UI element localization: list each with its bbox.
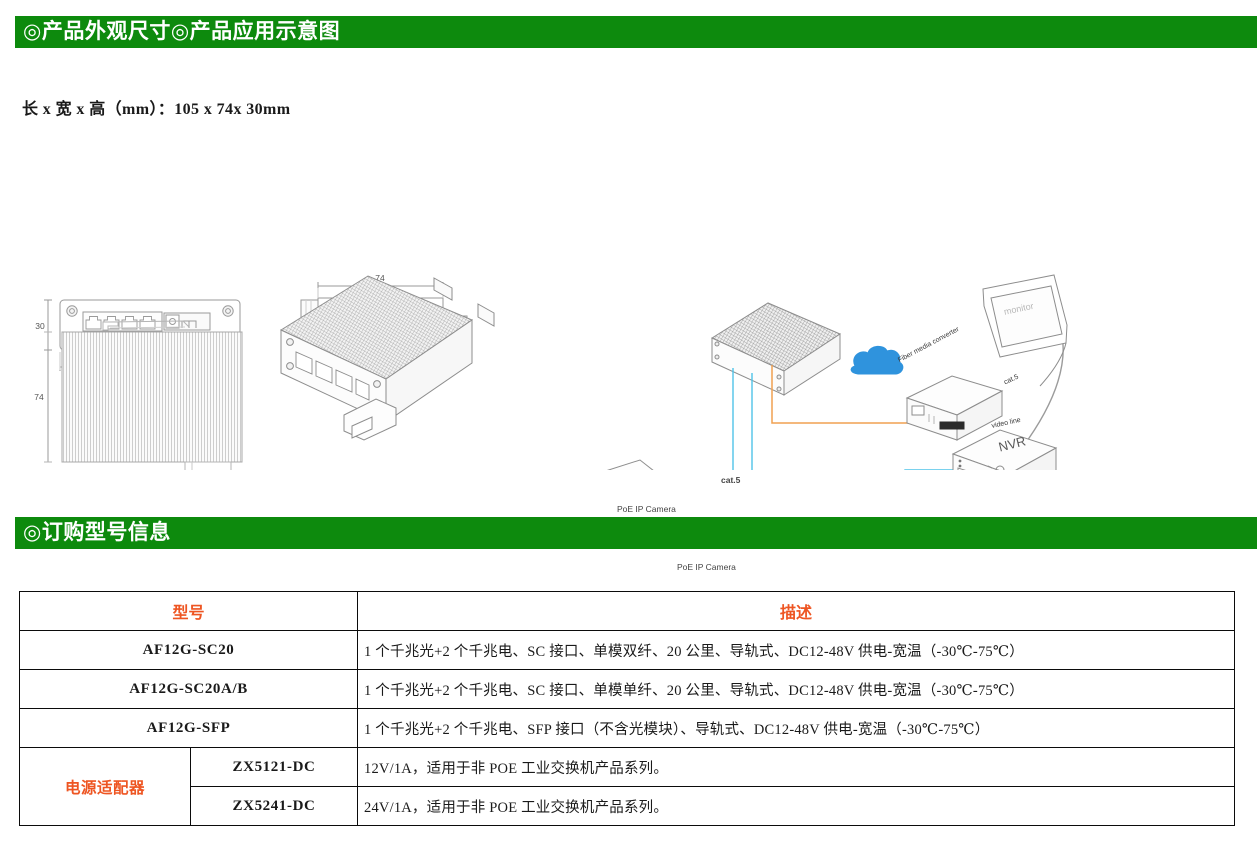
diagram-media-converter <box>907 376 1002 440</box>
drawings-svg: 30 105 74 74 <box>0 130 1257 470</box>
label-poe-ip-camera-1: PoE IP Camera <box>617 504 676 514</box>
power-adapter-group-label: 电源适配器 <box>20 748 191 826</box>
section-banner-dimensions: ◎产品外观尺寸◎产品应用示意图 <box>15 16 1257 48</box>
model-name: AF12G-SFP <box>20 709 358 748</box>
column-header-model: 型号 <box>20 592 358 631</box>
diagram-poe-camera-bullet <box>596 460 654 470</box>
table-row: AF12G-SC20A/B 1 个千兆光+2 个千兆电、SC 接口、单模单纤、2… <box>20 670 1235 709</box>
diagram-video-line <box>1022 335 1063 448</box>
diagram-switch <box>712 303 840 470</box>
adapter-model: ZX5241-DC <box>191 787 358 826</box>
drawing-side-view <box>44 321 242 470</box>
model-description: 1 个千兆光+2 个千兆电、SFP 接口（不含光模块）、导轨式、DC12-48V… <box>358 709 1235 748</box>
model-name: AF12G-SC20A/B <box>20 670 358 709</box>
model-description: 1 个千兆光+2 个千兆电、SC 接口、单模双纤、20 公里、导轨式、DC12-… <box>358 631 1235 670</box>
front-view-height-label: 30 <box>35 321 45 331</box>
label-wan-cloud: 广域网 <box>617 378 637 388</box>
table-row: 电源适配器 ZX5121-DC 12V/1A，适用于非 POE 工业交换机产品系… <box>20 748 1235 787</box>
model-name: AF12G-SC20 <box>20 631 358 670</box>
table-header-row: 型号 描述 <box>20 592 1235 631</box>
section-banner-ordering: ◎订购型号信息 <box>15 517 1257 549</box>
diagram-wan-cloud <box>851 346 903 374</box>
adapter-description: 12V/1A，适用于非 POE 工业交换机产品系列。 <box>358 748 1235 787</box>
adapter-description: 24V/1A，适用于非 POE 工业交换机产品系列。 <box>358 787 1235 826</box>
table-row: AF12G-SC20 1 个千兆光+2 个千兆电、SC 接口、单模双纤、20 公… <box>20 631 1235 670</box>
dimension-text: 长 x 宽 x 高（mm）：105 x 74x 30mm <box>22 95 291 119</box>
diagram-monitor <box>983 275 1067 386</box>
table-row: ZX5241-DC 24V/1A，适用于非 POE 工业交换机产品系列。 <box>20 787 1235 826</box>
model-description: 1 个千兆光+2 个千兆电、SC 接口、单模单纤、20 公里、导轨式、DC12-… <box>358 670 1235 709</box>
adapter-model: ZX5121-DC <box>191 748 358 787</box>
side-view-height-label: 74 <box>34 392 44 402</box>
table-row: AF12G-SFP 1 个千兆光+2 个千兆电、SFP 接口（不含光模块）、导轨… <box>20 709 1235 748</box>
ordering-table: 型号 描述 AF12G-SC20 1 个千兆光+2 个千兆电、SC 接口、单模双… <box>19 591 1235 826</box>
label-poe-ip-camera-2: PoE IP Camera <box>677 562 736 572</box>
label-cat5-left: cat.5 <box>721 475 740 485</box>
drawings-area: 30 105 74 74 <box>0 130 1257 470</box>
column-header-description: 描述 <box>358 592 1235 631</box>
